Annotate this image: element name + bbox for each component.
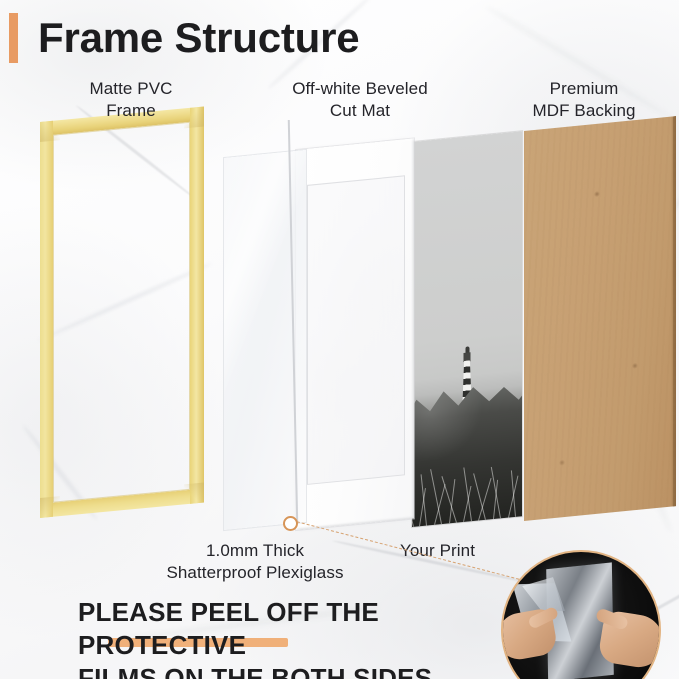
page-title: Frame Structure bbox=[38, 14, 359, 62]
label-your-print: Your Print bbox=[400, 540, 536, 562]
label-line: Shatterproof Plexiglass bbox=[120, 562, 390, 584]
label-pvc-frame: Matte PVC Frame bbox=[38, 78, 224, 122]
peel-notice: PLEASE PEEL OFF THE PROTECTIVE FILMS ON … bbox=[78, 596, 498, 679]
mdf-edge bbox=[671, 116, 676, 506]
frame-structure-infographic: Frame Structure bbox=[0, 0, 679, 679]
frame-miter-joint bbox=[40, 496, 60, 518]
notice-line-2-highlight: BOTH SIDES bbox=[271, 662, 432, 679]
layer-mdf-backing bbox=[524, 116, 676, 521]
layer-pvc-frame bbox=[40, 106, 204, 518]
label-line: Frame bbox=[38, 100, 224, 122]
label-line: 1.0mm Thick bbox=[120, 540, 390, 562]
frame-rail-left bbox=[40, 121, 53, 518]
label-plexiglass: 1.0mm Thick Shatterproof Plexiglass bbox=[120, 540, 390, 584]
notice-line-2: FILMS ON THE BOTH SIDES bbox=[78, 662, 498, 679]
layer-print bbox=[412, 131, 522, 527]
frame-opening bbox=[53, 122, 190, 503]
label-line: Off-white Beveled bbox=[252, 78, 468, 100]
frame-miter-joint bbox=[184, 482, 204, 504]
notice-line-1: PLEASE PEEL OFF THE PROTECTIVE bbox=[78, 596, 498, 662]
dune-grass bbox=[412, 373, 522, 527]
mat-bevel bbox=[296, 138, 414, 530]
callout-marker-dot bbox=[283, 516, 298, 531]
frame-miter-joint bbox=[40, 120, 60, 142]
title-accent-bar bbox=[9, 13, 18, 63]
label-cut-mat: Off-white Beveled Cut Mat bbox=[252, 78, 468, 122]
layer-cut-mat bbox=[296, 138, 414, 530]
label-line: Premium bbox=[492, 78, 676, 100]
label-line: MDF Backing bbox=[492, 100, 676, 122]
label-line: Cut Mat bbox=[252, 100, 468, 122]
frame-rail-right bbox=[190, 106, 204, 503]
label-mdf-backing: Premium MDF Backing bbox=[492, 78, 676, 122]
notice-line-2-prefix: FILMS ON THE bbox=[78, 663, 271, 679]
label-line: Matte PVC bbox=[38, 78, 224, 100]
mdf-grain-texture bbox=[524, 116, 676, 521]
